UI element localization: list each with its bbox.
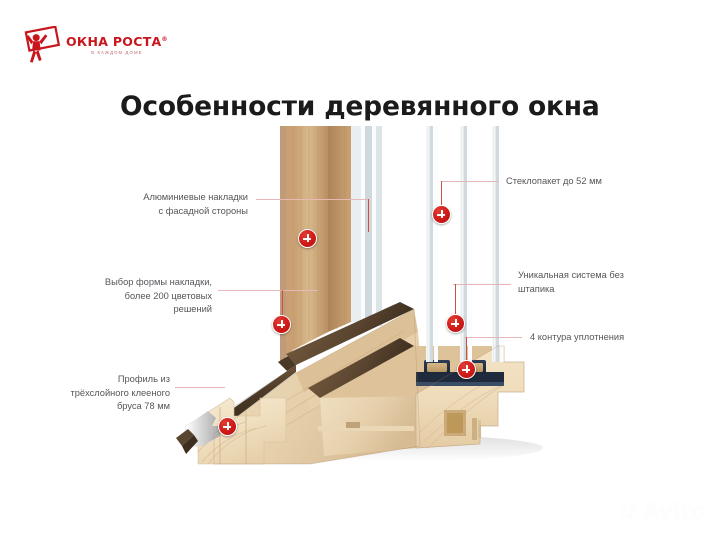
- callout-line: Профиль из: [22, 373, 170, 387]
- callout-line: бруса 78 мм: [22, 400, 170, 414]
- man-with-window-banner-icon: [20, 26, 64, 64]
- callout-line: штапика: [518, 283, 694, 297]
- callout-line: с фасадной стороны: [96, 205, 248, 219]
- avito-dots-icon: [621, 504, 638, 521]
- leader-line-three-layer-profile: [175, 387, 225, 388]
- callout-three-layer-profile: Профиль из трёхслойного клееного бруса 7…: [22, 373, 170, 414]
- callout-line: решений: [66, 303, 212, 317]
- brand-logo: ОКНА РОСТА® В КАЖДОМ ДОМЕ: [20, 26, 140, 64]
- watermark-label: Avito: [642, 501, 706, 524]
- brand-name: ОКНА РОСТА®: [66, 34, 168, 48]
- leader-line-aluminium-overlays: [256, 199, 368, 200]
- registered-mark: ®: [162, 36, 168, 43]
- leader-line-glass-unit: [441, 181, 499, 182]
- callout-line: Выбор формы накладки,: [66, 276, 212, 290]
- callout-overlay-shape-choice: Выбор формы накладки, более 200 цветовых…: [66, 276, 212, 317]
- callout-line: Уникальная система без: [518, 269, 694, 283]
- callout-line: 4 контура уплотнения: [530, 331, 706, 345]
- hotspot-marker-overlay-shape-choice[interactable]: [272, 315, 291, 334]
- leader-drop-overlay-shape-choice: [282, 290, 283, 317]
- callout-four-seal-contours: 4 контура уплотнения: [530, 331, 706, 345]
- hotspot-marker-four-seal-contours[interactable]: [457, 360, 476, 379]
- avito-watermark: Avito: [621, 501, 706, 524]
- callout-line: трёхслойного клееного: [22, 387, 170, 401]
- hotspot-marker-beadless-system[interactable]: [446, 314, 465, 333]
- callout-aluminium-overlays: Алюминиевые накладки с фасадной стороны: [96, 191, 248, 218]
- leader-line-beadless-system: [453, 284, 511, 285]
- callout-line: Алюминиевые накладки: [96, 191, 248, 205]
- hotspot-marker-aluminium-overlays[interactable]: [298, 229, 317, 248]
- page-title: Особенности деревянного окна: [120, 90, 620, 124]
- leader-line-overlay-shape-choice: [218, 290, 318, 291]
- brand-lockup: ОКНА РОСТА® В КАЖДОМ ДОМЕ: [66, 34, 168, 55]
- callout-glass-unit: Стеклопакет до 52 мм: [506, 175, 686, 189]
- leader-line-four-seal-contours: [464, 337, 522, 338]
- callout-beadless-system: Уникальная система без штапика: [518, 269, 694, 296]
- callout-line: Стеклопакет до 52 мм: [506, 175, 686, 189]
- brand-tagline: В КАЖДОМ ДОМЕ: [66, 50, 168, 55]
- hotspot-marker-glass-unit[interactable]: [432, 205, 451, 224]
- leader-drop-aluminium-overlays: [368, 199, 369, 232]
- slide-canvas: ОКНА РОСТА® В КАЖДОМ ДОМЕ Особенности де…: [0, 0, 720, 540]
- leader-drop-glass-unit: [441, 181, 442, 205]
- hotspot-marker-three-layer-profile[interactable]: [218, 417, 237, 436]
- callout-line: более 200 цветовых: [66, 290, 212, 304]
